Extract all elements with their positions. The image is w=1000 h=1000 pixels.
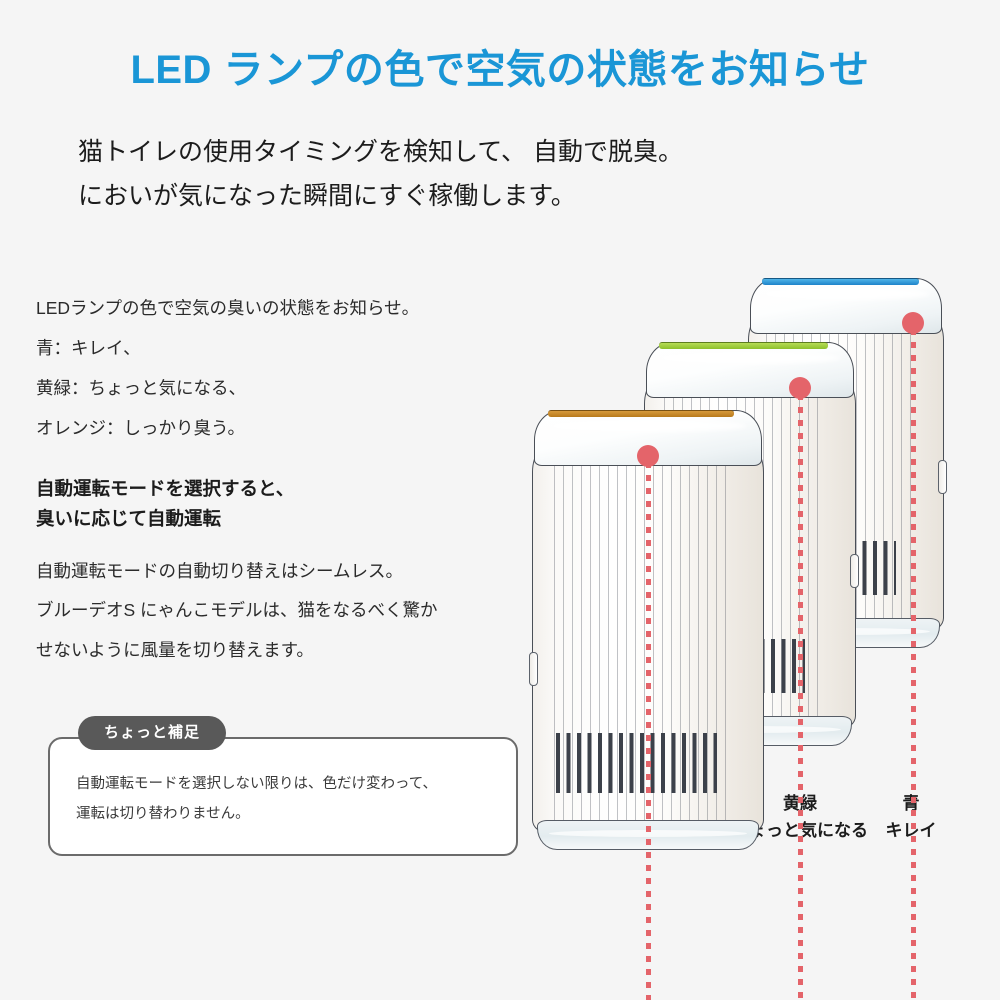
- side-button-blue[interactable]: [938, 460, 947, 494]
- lead-line-4: オレンジ：しっかり臭う。: [36, 408, 536, 448]
- led-strip-blue: [762, 278, 919, 285]
- supplement-callout: ちょっと補足 自動運転モードを選択しない限りは、色だけ変わって、 運転は切り替わ…: [48, 737, 518, 856]
- callout-line-1: 自動運転モードを選択しない限りは、色だけ変わって、: [76, 769, 490, 799]
- pointer-dotted-line-green: [798, 394, 803, 1000]
- pointer-dotted-line-blue: [911, 329, 916, 1000]
- page-title: LED ランプの色で空気の状態をお知らせ: [0, 46, 1000, 94]
- lead-line-3: 黄緑：ちょっと気になる、: [36, 368, 536, 408]
- callout-line-2: 運転は切り替わりません。: [76, 799, 490, 829]
- unit-top-cap-green: [646, 342, 854, 398]
- product-illustration-stage: [520, 270, 1000, 870]
- led-strip-green: [659, 342, 829, 349]
- legend-blue: 青 キレイ: [818, 790, 1000, 844]
- callout-text: 自動運転モードを選択しない限りは、色だけ変わって、 運転は切り替わりません。: [76, 769, 490, 830]
- body-line-2: ブルーデオS にゃんこモデルは、猫をなるべく驚か: [36, 591, 536, 630]
- callout-badge: ちょっと補足: [78, 716, 226, 750]
- pointer-dotted-line-orange: [646, 462, 651, 1000]
- body-copy: 自動運転モードの自動切り替えはシームレス。 ブルーデオS にゃんこモデルは、猫を…: [36, 552, 536, 670]
- led-strip-orange: [548, 410, 734, 417]
- left-content-column: LEDランプの色で空気の臭いの状態をお知らせ。 青：キレイ、 黄緑：ちょっと気に…: [36, 288, 536, 670]
- legend-blue-name: 青: [818, 790, 1000, 817]
- bottom-vent-slats-orange: [556, 733, 717, 793]
- lead-line-2: 青：キレイ、: [36, 328, 536, 368]
- led-color-legend-text: LEDランプの色で空気の臭いの状態をお知らせ。 青：キレイ、 黄緑：ちょっと気に…: [36, 288, 536, 448]
- subtitle: 猫トイレの使用タイミングを検知して、 自動で脱臭。 においが気になった瞬間にすぐ…: [78, 131, 683, 219]
- side-button-orange[interactable]: [529, 652, 538, 686]
- body-line-1: 自動運転モードの自動切り替えはシームレス。: [36, 552, 536, 591]
- callout-box: 自動運転モードを選択しない限りは、色だけ変わって、 運転は切り替わりません。: [48, 737, 518, 856]
- lead-line-1: LEDランプの色で空気の臭いの状態をお知らせ。: [36, 288, 536, 328]
- section-heading-line-2: 臭いに応じて自動運転: [36, 504, 536, 534]
- legend-blue-desc: キレイ: [818, 817, 1000, 844]
- subtitle-line-1: 猫トイレの使用タイミングを検知して、 自動で脱臭。: [78, 131, 683, 175]
- section-heading-line-1: 自動運転モードを選択すると、: [36, 474, 536, 504]
- body-line-3: せないように風量を切り替えます。: [36, 631, 536, 670]
- subtitle-line-2: においが気になった瞬間にすぐ稼働します。: [78, 175, 683, 219]
- side-button-green[interactable]: [850, 554, 859, 588]
- section-heading: 自動運転モードを選択すると、 臭いに応じて自動運転: [36, 474, 536, 534]
